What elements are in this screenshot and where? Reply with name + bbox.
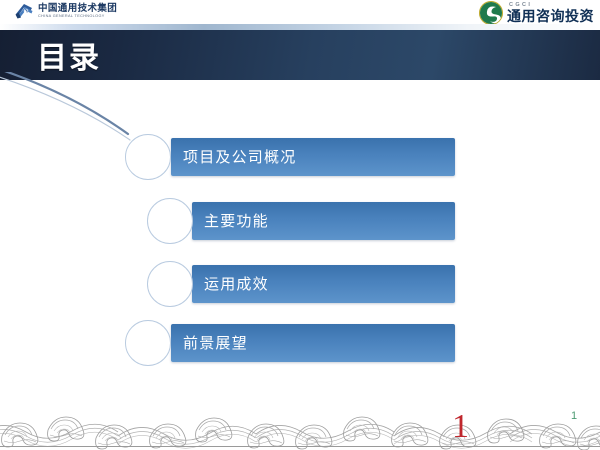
page-number-small: 1: [571, 411, 577, 422]
agenda-item-1-label: 项目及公司概况: [183, 138, 296, 176]
page-number-large: 1: [452, 410, 469, 444]
agenda-item-4-label: 前景展望: [183, 324, 248, 362]
agenda-item-2[interactable]: 主要功能: [0, 198, 600, 244]
agenda-item-2-bullet-circle[interactable]: [147, 198, 193, 244]
left-company-logo: 中国通用技术集团 CHINA GENERAL TECHNOLOGY: [14, 2, 117, 21]
agenda-item-1[interactable]: 项目及公司概况: [0, 134, 600, 180]
presentation-slide: 中国通用技术集团 CHINA GENERAL TECHNOLOGY CGCI 通…: [0, 0, 600, 450]
page-title: 目录: [37, 33, 101, 77]
agenda-item-3-label: 运用成效: [204, 265, 269, 303]
agenda-item-4-bullet-circle[interactable]: [125, 320, 171, 366]
agenda-item-3-bullet-circle[interactable]: [147, 261, 193, 307]
right-company-name-cn: 通用咨询投资: [507, 9, 594, 23]
slide-title-banner: 目录: [0, 30, 600, 80]
wave-baseline-rule: [0, 446, 600, 447]
agenda-item-1-bullet-circle[interactable]: [125, 134, 171, 180]
agenda-item-2-label: 主要功能: [204, 202, 269, 240]
slide-header-strip: 中国通用技术集团 CHINA GENERAL TECHNOLOGY CGCI 通…: [0, 0, 600, 24]
agenda-item-4[interactable]: 前景展望: [0, 320, 600, 366]
cgci-swirl-emblem-icon: [478, 0, 504, 26]
left-company-name-en: CHINA GENERAL TECHNOLOGY: [38, 15, 117, 19]
left-company-name-cn: 中国通用技术集团: [38, 4, 117, 14]
chinese-wave-pattern-decoration: [0, 408, 600, 450]
china-general-technology-emblem-icon: [14, 2, 34, 21]
agenda-item-3[interactable]: 运用成效: [0, 261, 600, 307]
right-company-logo: CGCI 通用咨询投资: [478, 0, 594, 26]
left-company-name-block: 中国通用技术集团 CHINA GENERAL TECHNOLOGY: [38, 4, 117, 19]
right-company-name-block: CGCI 通用咨询投资: [507, 3, 594, 24]
